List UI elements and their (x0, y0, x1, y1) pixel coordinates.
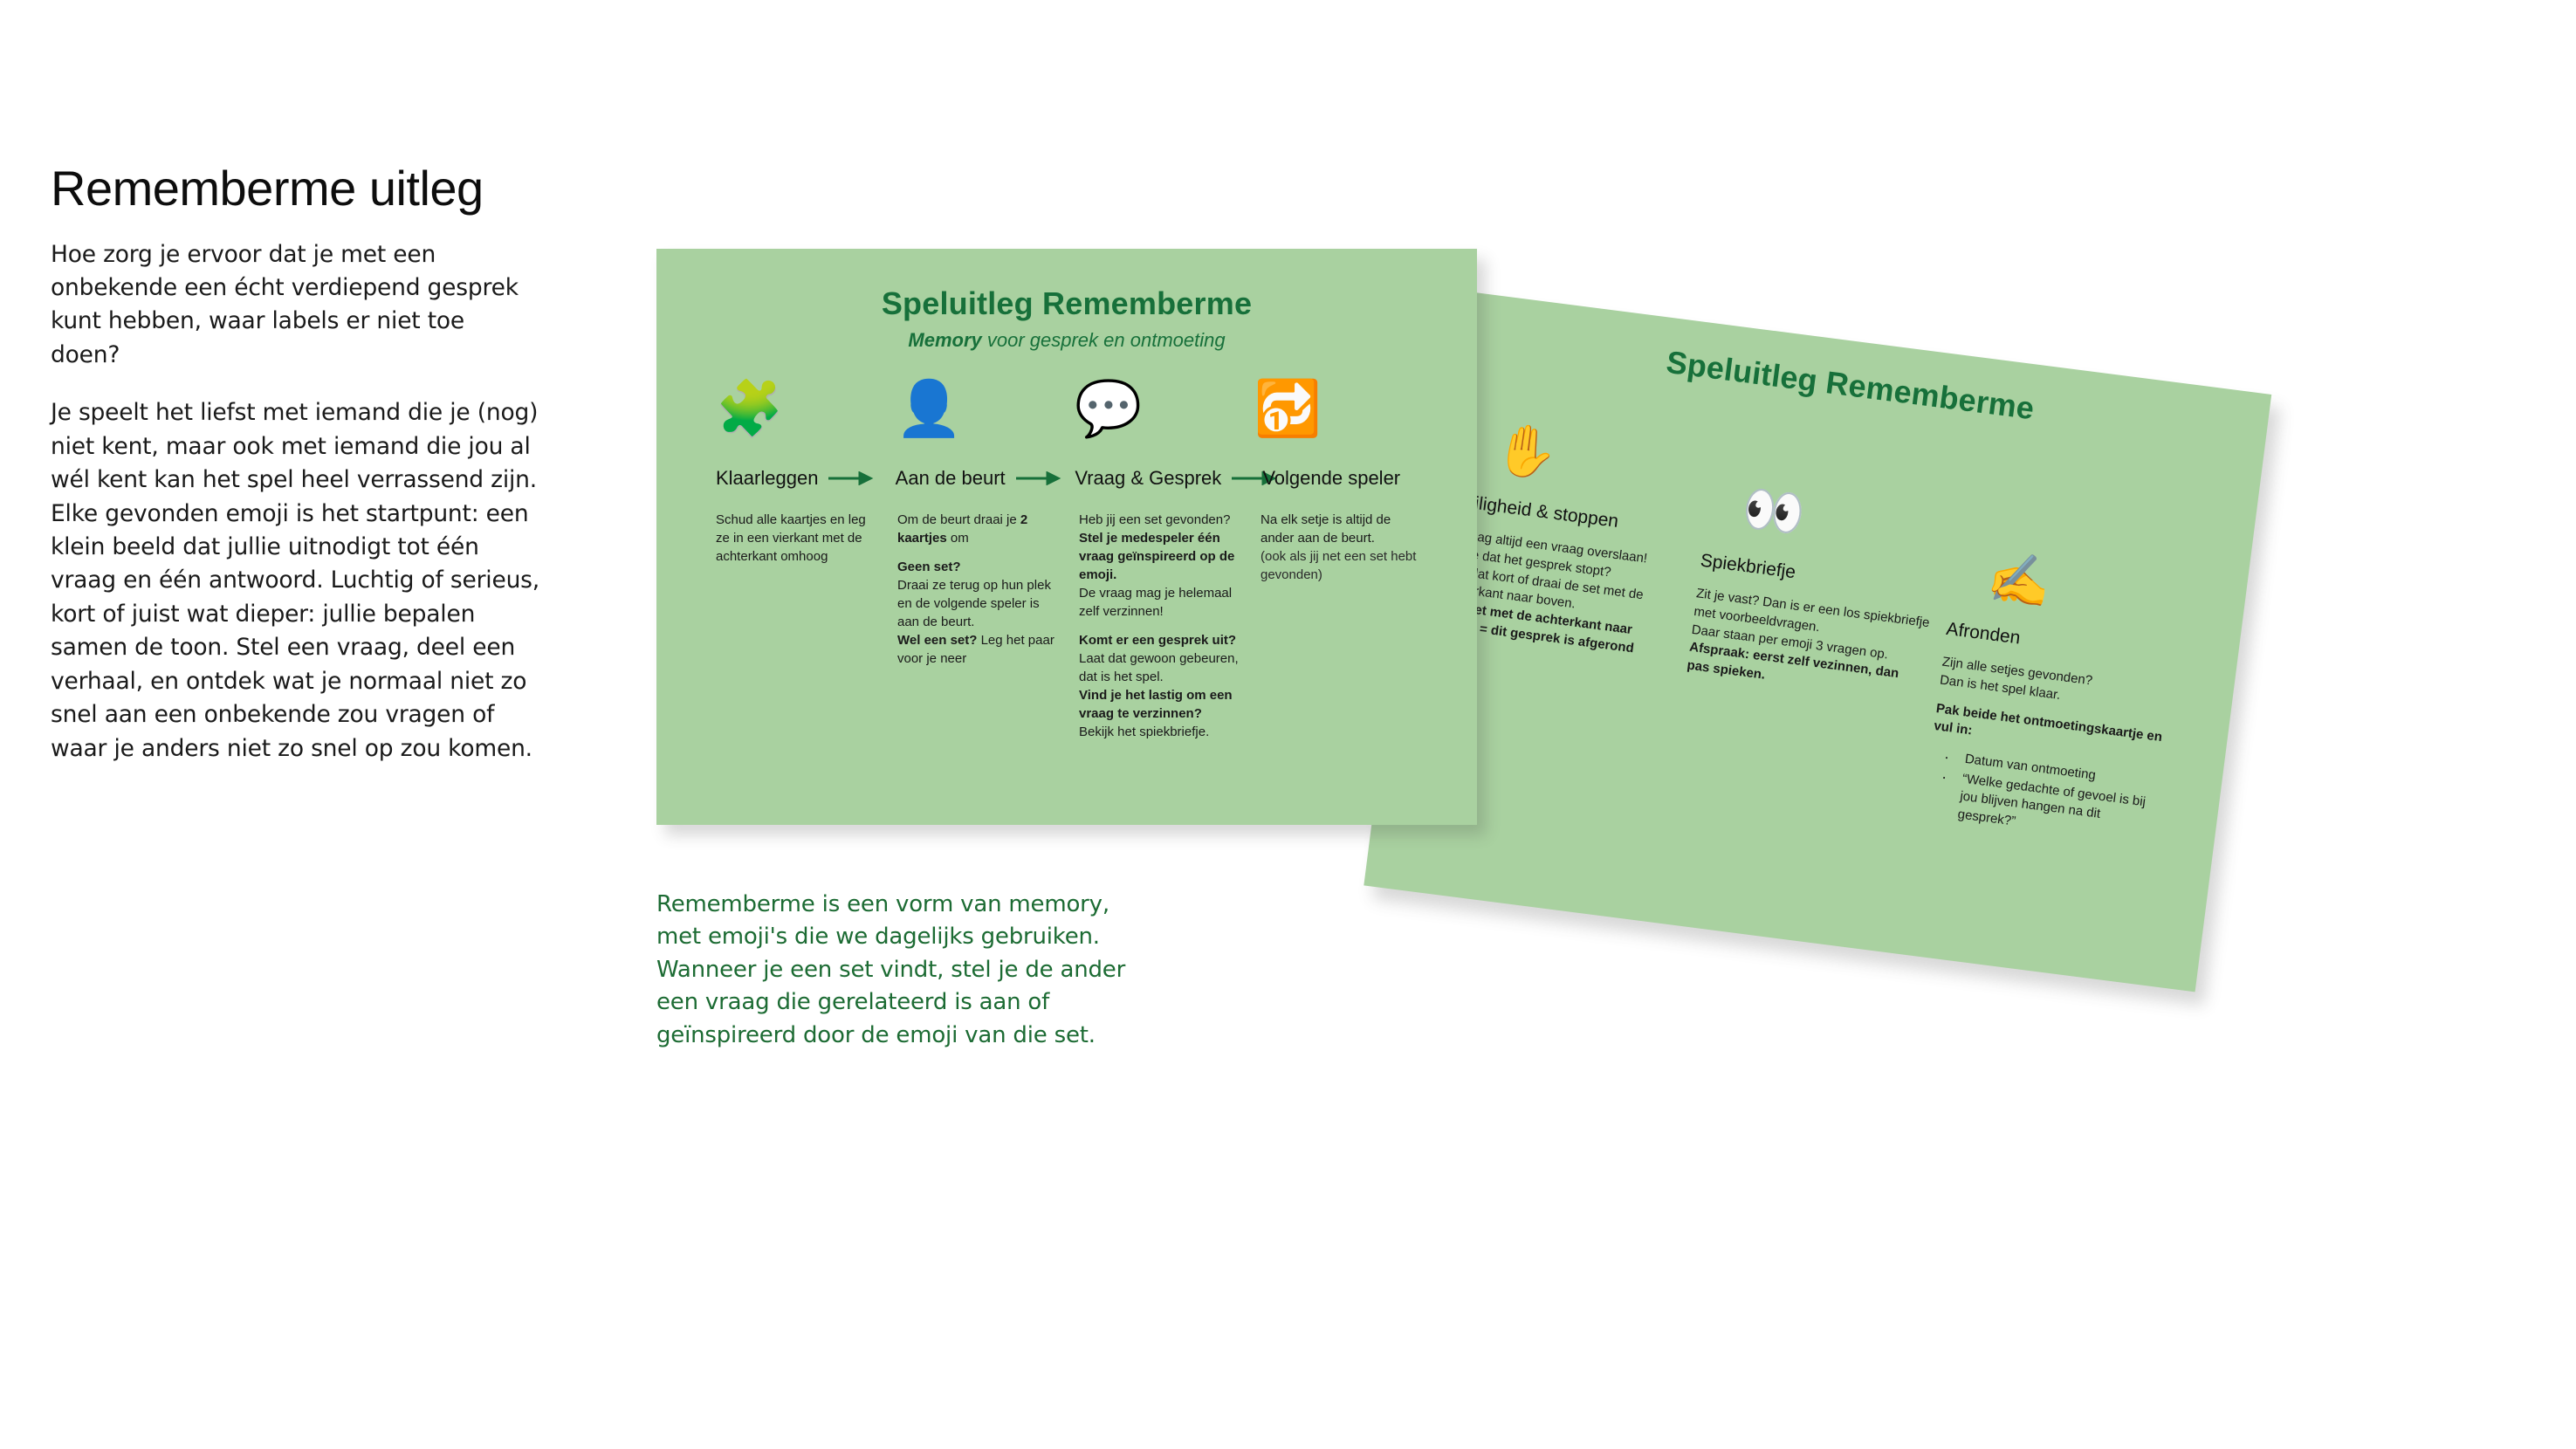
step-body-vraag-gesprek: Heb jij een set gevonden? Stel je medesp… (1079, 511, 1261, 741)
card-front-title: Speluitleg Rememberme (691, 285, 1442, 322)
back-section-body: Zit je vast? Dan is er een los spiekbrie… (1686, 585, 1930, 704)
rules-card-back: Speluitleg Rememberme ✋ Veiligheid & sto… (1364, 288, 2271, 992)
back-section-afronden: ✍️ Afronden Zijn alle setjes gevonden?Da… (1922, 546, 2208, 854)
writing-hand-icon: ✍️ (1985, 551, 2190, 627)
green-caption: Rememberme is een vorm van memory, met e… (656, 889, 1128, 1052)
card-front-subtitle: Memory voor gesprek en ontmoeting (691, 329, 1442, 352)
step-body-volgende-speler: Na elk setje is altijd de ander aan de b… (1261, 511, 1442, 584)
step-label: Aan de beurt (896, 467, 1006, 490)
bust-in-silhouette-icon: 👤 (896, 381, 1075, 436)
intro-paragraph-1: Hoe zorg je ervoor dat je met een onbeke… (51, 238, 539, 373)
card-front-subtitle-strong: Memory (908, 329, 981, 351)
step-heading-volgende-speler: Volgende speler (1262, 467, 1442, 490)
raised-hand-icon: ✋ (1493, 422, 1698, 498)
step-emoji-row: 🧩 👤 💬 🔂 (691, 381, 1442, 436)
page-title: Rememberme uitleg (51, 161, 539, 216)
speech-balloon-icon: 💬 (1075, 381, 1254, 436)
back-section-body: Zijn alle setjes gevonden?Dan is het spe… (1922, 654, 2176, 849)
arrow-right-icon (1016, 471, 1061, 485)
back-section-spiekbriefje: 👀 Spiekbriefje Zit je vast? Dan is er ee… (1672, 477, 1962, 821)
card-front-header: Speluitleg Rememberme Memory voor gespre… (691, 285, 1442, 352)
step-heading-aan-de-beurt: Aan de beurt (896, 467, 1075, 490)
step-body-row: Schud alle kaartjes en leg ze in een vie… (691, 511, 1442, 741)
step-heading-klaarleggen: Klaarleggen (716, 467, 896, 490)
step-body-aan-de-beurt: Om de beurt draai je 2 kaartjes omGeen s… (897, 511, 1079, 668)
intro-column: Rememberme uitleg Hoe zorg je ervoor dat… (51, 161, 539, 766)
eyes-icon: 👀 (1740, 482, 1945, 558)
step-label: Klaarleggen (716, 467, 818, 490)
card-front-subtitle-rest: voor gesprek en ontmoeting (982, 329, 1226, 351)
step-heading-row: Klaarleggen Aan de beurt Vraag & Gesprek… (691, 467, 1442, 490)
step-label: Volgende speler (1262, 467, 1400, 490)
intro-paragraph-2: Je speelt het liefst met iemand die je (… (51, 396, 539, 766)
rules-card-front: Speluitleg Rememberme Memory voor gespre… (656, 249, 1477, 825)
step-heading-vraag-gesprek: Vraag & Gesprek (1075, 467, 1262, 490)
step-body-klaarleggen: Schud alle kaartjes en leg ze in een vie… (716, 511, 897, 566)
puzzle-piece-icon: 🧩 (716, 381, 896, 436)
repeat-one-icon: 🔂 (1254, 381, 1434, 436)
arrow-right-icon (828, 471, 874, 485)
card-back-sections: ✋ Veiligheid & stoppen Je mag altijd een… (1412, 402, 2227, 855)
step-label: Vraag & Gesprek (1075, 467, 1221, 490)
